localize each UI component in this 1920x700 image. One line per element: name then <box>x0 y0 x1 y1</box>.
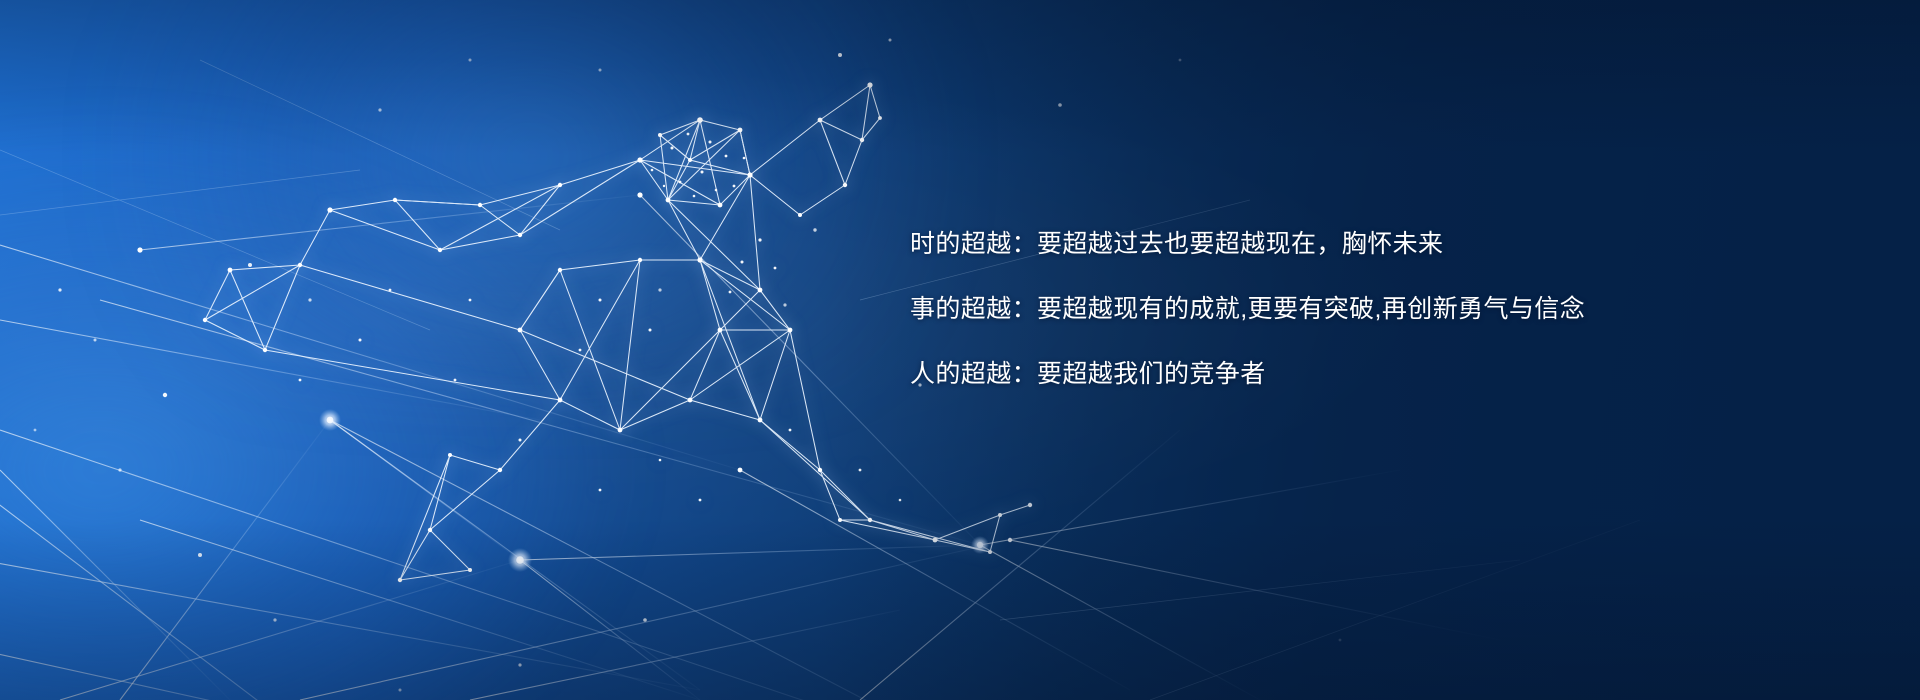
slogan-line-achievement: 事的超越：要超越现有的成就,更要有突破,再创新勇气与信念 <box>910 297 1730 322</box>
slogan-text-block: 时的超越：要超越过去也要超越现在，胸怀未来 事的超越：要超越现有的成就,更要有突… <box>910 232 1730 387</box>
slogan-line-time: 时的超越：要超越过去也要超越现在，胸怀未来 <box>910 232 1730 257</box>
slogan-line-people: 人的超越：要超越我们的竞争者 <box>910 362 1730 387</box>
hero-banner: 时的超越：要超越过去也要超越现在，胸怀未来 事的超越：要超越现有的成就,更要有突… <box>0 0 1920 700</box>
